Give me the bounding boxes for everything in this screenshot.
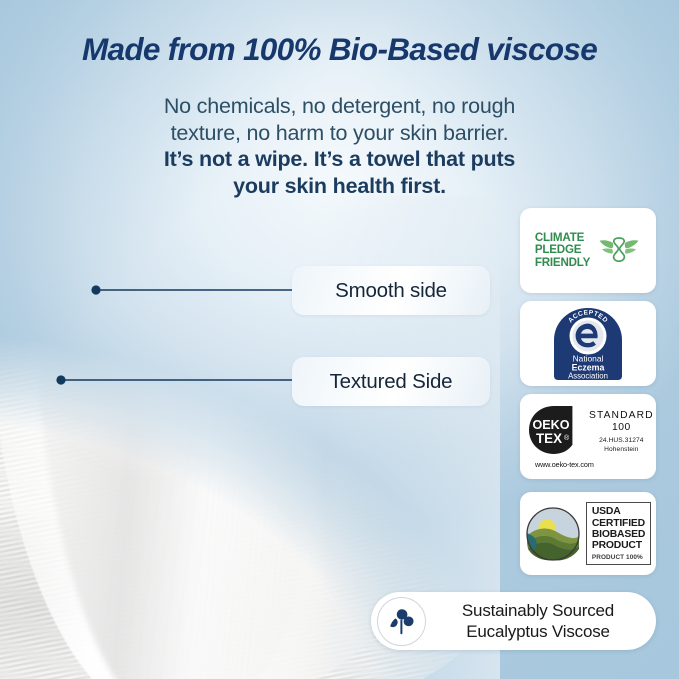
climate-pledge-line-2: PLEDGE	[535, 244, 590, 256]
callout-textured-side: Textured Side	[292, 357, 490, 406]
svg-text:OEKO: OEKO	[532, 418, 569, 432]
callout-smooth-side-label: Smooth side	[335, 279, 447, 303]
svg-text:TEX: TEX	[536, 431, 562, 446]
page-title: Made from 100% Bio-Based viscose	[0, 31, 679, 68]
oeko-institute: Hohenstein	[604, 446, 638, 454]
oeko-standard-number: 100	[612, 422, 631, 434]
usda-line-1: USDA	[592, 506, 621, 517]
usda-line-4: PRODUCT	[592, 540, 642, 551]
towel-highlight	[20, 226, 300, 486]
climate-pledge-text: CLIMATE PLEDGE FRIENDLY	[535, 232, 590, 269]
oeko-standard-label: STANDARD	[589, 410, 654, 422]
svg-text:Association: Association	[568, 371, 608, 380]
eucalyptus-line-2: Eucalyptus Viscose	[426, 621, 650, 642]
climate-pledge-line-3: FRIENDLY	[535, 257, 590, 269]
oeko-website-url: www.oeko-tex.com	[535, 460, 594, 469]
product-infographic: Made from 100% Bio-Based viscose No chem…	[0, 0, 679, 679]
usda-text-block: USDA CERTIFIED BIOBASED PRODUCT PRODUCT …	[586, 502, 651, 565]
eucalyptus-label: Sustainably Sourced Eucalyptus Viscose	[426, 600, 656, 642]
badge-climate-pledge-friendly: CLIMATE PLEDGE FRIENDLY	[520, 208, 656, 293]
badge-oeko-tex-standard-100: OEKO TEX ® STANDARD 100 24.HUS.31274 Hoh…	[520, 394, 656, 479]
usda-line-3: BIOBASED	[592, 529, 645, 540]
subheading-line-2: texture, no harm to your skin barrier.	[50, 120, 629, 147]
badge-national-eczema-association: National Eczema Association ACCEPTED	[520, 301, 656, 386]
svg-text:®: ®	[564, 434, 570, 442]
badge-usda-certified-biobased: USDA CERTIFIED BIOBASED PRODUCT PRODUCT …	[520, 492, 656, 575]
subheading: No chemicals, no detergent, no rough tex…	[50, 93, 629, 199]
callout-smooth-side: Smooth side	[292, 266, 490, 315]
oeko-certificate-number: 24.HUS.31274	[599, 437, 643, 445]
usda-line-2: CERTIFIED	[592, 518, 645, 529]
eucalyptus-leaf-icon	[386, 605, 418, 637]
eucalyptus-sourcing-badge: Sustainably Sourced Eucalyptus Viscose	[371, 592, 656, 650]
nea-accepted-seal-icon: National Eczema Association ACCEPTED	[551, 306, 625, 382]
usda-product-percentage: PRODUCT 100%	[592, 553, 643, 562]
eucalyptus-icon-container	[377, 597, 426, 646]
usda-biobased-logo-icon	[525, 506, 581, 562]
subheading-line-4: your skin health first.	[50, 173, 629, 200]
winged-hourglass-icon	[597, 229, 641, 273]
eucalyptus-line-1: Sustainably Sourced	[426, 600, 650, 621]
callout-textured-side-label: Textured Side	[330, 370, 453, 394]
oeko-tex-mark-icon: OEKO TEX ®	[527, 404, 585, 458]
subheading-line-1: No chemicals, no detergent, no rough	[50, 93, 629, 120]
subheading-line-3: It’s not a wipe. It’s a towel that puts	[50, 146, 629, 173]
